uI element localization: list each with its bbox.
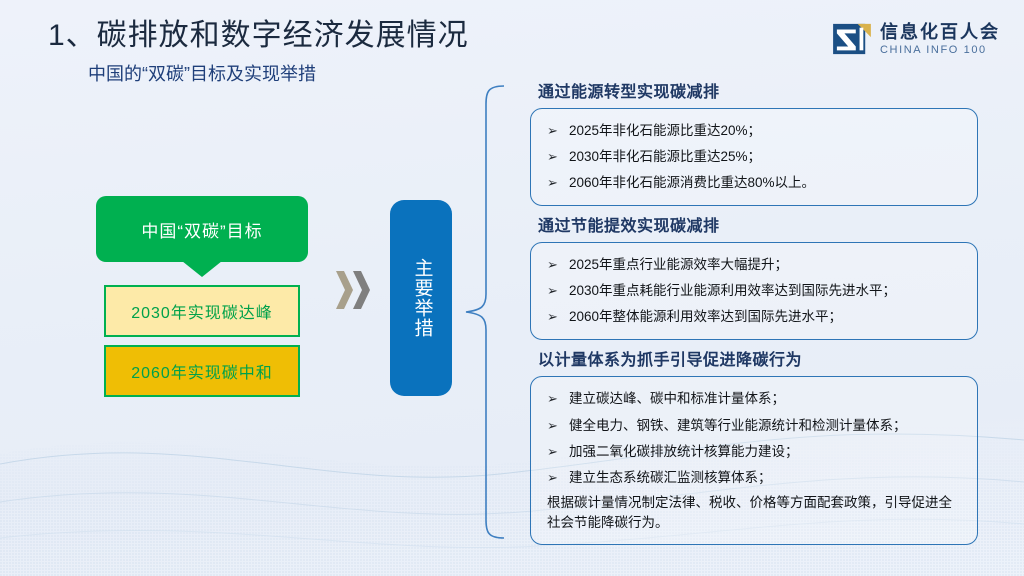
double-chevron-right-icon <box>333 268 379 312</box>
list-item-text: 2025年重点行业能源效率大幅提升； <box>569 256 963 274</box>
list-item-text: 建立生态系统碳汇监测核算体系； <box>569 469 963 487</box>
list-item: ➢ 建立碳达峰、碳中和标准计量体系； <box>547 386 963 412</box>
logo-text: 信息化百人会 CHINA INFO 100 <box>880 23 1000 56</box>
brand-logo: 信息化百人会 CHINA INFO 100 <box>833 22 1000 56</box>
goal-callout-box: 中国“双碳”目标 <box>96 196 308 262</box>
list-item: ➢ 2030年非化石能源比重达25%； <box>547 144 963 170</box>
list-item-text: 建立碳达峰、碳中和标准计量体系； <box>569 390 963 408</box>
slide-canvas: 1、碳排放和数字经济发展情况 中国的“双碳”目标及实现举措 信息化百人会 CHI… <box>0 0 1024 576</box>
arrow-bullet-icon: ➢ <box>547 256 569 274</box>
goal-item-label: 2060年实现碳中和 <box>131 359 273 383</box>
arrow-bullet-icon: ➢ <box>547 282 569 300</box>
arrow-bullet-icon: ➢ <box>547 308 569 326</box>
arrow-bullet-icon: ➢ <box>547 148 569 166</box>
section-box: ➢ 建立碳达峰、碳中和标准计量体系； ➢ 健全电力、钢铁、建筑等行业能源统计和检… <box>530 376 978 544</box>
list-item: ➢ 2060年非化石能源消费比重达80%以上。 <box>547 170 963 196</box>
list-item: ➢ 2030年重点耗能行业能源利用效率达到国际先进水平； <box>547 278 963 304</box>
measures-sections: 通过能源转型实现碳减排 ➢ 2025年非化石能源比重达20%； ➢ 2030年非… <box>530 78 978 551</box>
goal-item-label: 2030年实现碳达峰 <box>131 299 273 323</box>
section-heading: 通过能源转型实现碳减排 <box>538 78 978 102</box>
goal-item-carbon-peak: 2030年实现碳达峰 <box>104 285 300 337</box>
list-item: ➢ 加强二氧化碳排放统计核算能力建设； <box>547 439 963 465</box>
section-heading: 通过节能提效实现碳减排 <box>538 212 978 236</box>
china-info-100-logo-icon <box>833 22 871 56</box>
list-item-text: 2060年整体能源利用效率达到国际先进水平； <box>569 308 963 326</box>
main-measures-bar: 主要举措 <box>390 200 452 396</box>
list-item: ➢ 健全电力、钢铁、建筑等行业能源统计和检测计量体系； <box>547 413 963 439</box>
list-item: ➢ 2025年非化石能源比重达20%； <box>547 118 963 144</box>
page-title-block: 1、碳排放和数字经济发展情况 中国的“双碳”目标及实现举措 <box>48 18 668 86</box>
section-paragraph: 根据碳计量情况制定法律、税收、价格等方面配套政策，引导促进全社会节能降碳行为。 <box>547 491 963 534</box>
list-item: ➢ 2060年整体能源利用效率达到国际先进水平； <box>547 304 963 330</box>
list-item-text: 2030年重点耗能行业能源利用效率达到国际先进水平； <box>569 282 963 300</box>
arrow-bullet-icon: ➢ <box>547 417 569 435</box>
list-item-text: 2060年非化石能源消费比重达80%以上。 <box>569 174 963 192</box>
list-item-text: 加强二氧化碳排放统计核算能力建设； <box>569 443 963 461</box>
curly-brace-icon <box>462 82 506 542</box>
list-item-text: 2025年非化石能源比重达20%； <box>569 122 963 140</box>
section-box: ➢ 2025年重点行业能源效率大幅提升； ➢ 2030年重点耗能行业能源利用效率… <box>530 242 978 341</box>
section-metrology-system: 以计量体系为抓手引导促进降碳行为 ➢ 建立碳达峰、碳中和标准计量体系； ➢ 健全… <box>530 346 978 544</box>
section-box: ➢ 2025年非化石能源比重达20%； ➢ 2030年非化石能源比重达25%； … <box>530 108 978 206</box>
arrow-bullet-icon: ➢ <box>547 443 569 461</box>
arrow-bullet-icon: ➢ <box>547 174 569 192</box>
goal-callout-label: 中国“双碳”目标 <box>141 217 262 242</box>
section-heading: 以计量体系为抓手引导促进降碳行为 <box>538 346 978 370</box>
arrow-bullet-icon: ➢ <box>547 469 569 487</box>
logo-name-en: CHINA INFO 100 <box>880 45 1000 56</box>
list-item-text: 2030年非化石能源比重达25%； <box>569 148 963 166</box>
main-measures-label: 主要举措 <box>408 258 435 338</box>
list-item-text: 健全电力、钢铁、建筑等行业能源统计和检测计量体系； <box>569 417 963 435</box>
goal-item-carbon-neutral: 2060年实现碳中和 <box>104 345 300 397</box>
list-item: ➢ 建立生态系统碳汇监测核算体系； <box>547 465 963 491</box>
arrow-bullet-icon: ➢ <box>547 122 569 140</box>
page-title: 1、碳排放和数字经济发展情况 <box>48 18 668 54</box>
logo-name-cn: 信息化百人会 <box>880 23 1000 41</box>
section-energy-efficiency: 通过节能提效实现碳减排 ➢ 2025年重点行业能源效率大幅提升； ➢ 2030年… <box>530 212 978 341</box>
arrow-bullet-icon: ➢ <box>547 390 569 408</box>
section-energy-transition: 通过能源转型实现碳减排 ➢ 2025年非化石能源比重达20%； ➢ 2030年非… <box>530 78 978 206</box>
list-item: ➢ 2025年重点行业能源效率大幅提升； <box>547 252 963 278</box>
